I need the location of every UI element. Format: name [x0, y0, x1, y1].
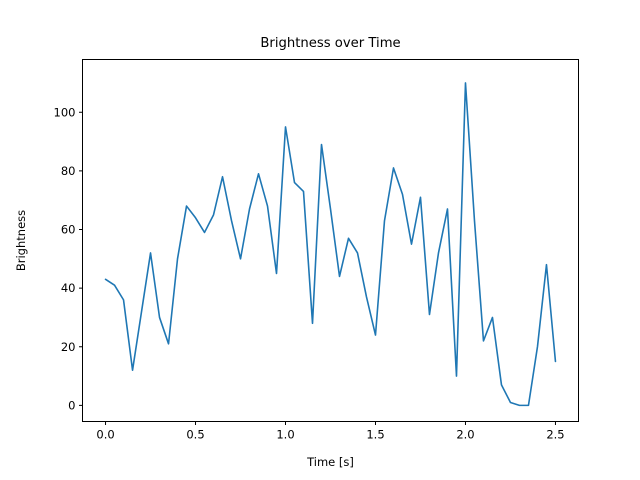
- matplotlib-figure: 0.00.51.01.52.02.5 020406080100 Brightne…: [0, 0, 640, 480]
- y-axis-label: Brightness: [14, 210, 28, 271]
- y-tick-label: 80: [61, 164, 76, 178]
- y-tick-label: 20: [61, 340, 76, 354]
- line-chart: 0.00.51.01.52.02.5 020406080100 Brightne…: [0, 0, 640, 480]
- y-tick-label: 60: [61, 223, 76, 237]
- y-tick-label: 0: [68, 398, 75, 412]
- x-tick-label: 1.0: [276, 428, 294, 442]
- x-tick-label: 2.0: [456, 428, 474, 442]
- x-tick-label: 1.5: [366, 428, 384, 442]
- y-tick-label: 100: [54, 105, 76, 119]
- x-tick-label: 0.5: [186, 428, 204, 442]
- chart-title: Brightness over Time: [260, 36, 400, 51]
- y-tick-label: 40: [61, 281, 76, 295]
- figure-background: [0, 0, 640, 480]
- x-tick-label: 0.0: [96, 428, 114, 442]
- x-tick-label: 2.5: [546, 428, 564, 442]
- x-axis-label: Time [s]: [306, 455, 354, 469]
